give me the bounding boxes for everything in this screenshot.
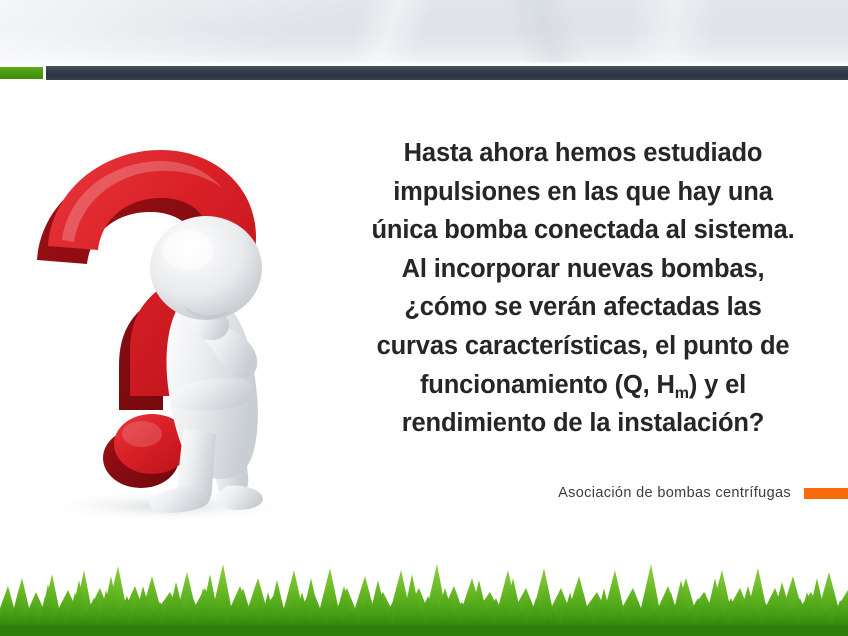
question-text-block: Hasta ahora hemos estudiado impulsiones …	[322, 134, 844, 443]
slide: Hasta ahora hemos estudiado impulsiones …	[0, 0, 848, 636]
question-line-7: funcionamiento (Q, Hm) y el	[322, 366, 844, 405]
grass-border	[0, 544, 848, 636]
question-line-7-suffix: ) y el	[689, 371, 746, 399]
question-line-1: Hasta ahora hemos estudiado	[322, 134, 844, 173]
thinking-figure-with-question-mark-illustration	[18, 128, 318, 528]
caption-row: Asociación de bombas centrífugas	[322, 481, 848, 505]
question-line-5: ¿cómo se verán afectadas las	[322, 288, 844, 327]
question-line-7-subscript: m	[675, 384, 689, 401]
question-line-6: curvas características, el punto de	[322, 327, 844, 366]
question-line-7-prefix: funcionamiento (Q, H	[420, 371, 675, 399]
orange-accent-bar	[804, 488, 848, 499]
dark-accent-rule	[46, 66, 848, 80]
question-line-8: rendimiento de la instalación?	[322, 404, 844, 443]
question-line-3: única bomba conectada al sistema.	[322, 211, 844, 250]
question-line-2: impulsiones en las que hay una	[322, 173, 844, 212]
top-textured-band	[0, 0, 848, 64]
green-accent-rule	[0, 67, 43, 79]
caption-text: Asociación de bombas centrífugas	[558, 485, 791, 501]
question-line-4: Al incorporar nuevas bombas,	[322, 250, 844, 289]
